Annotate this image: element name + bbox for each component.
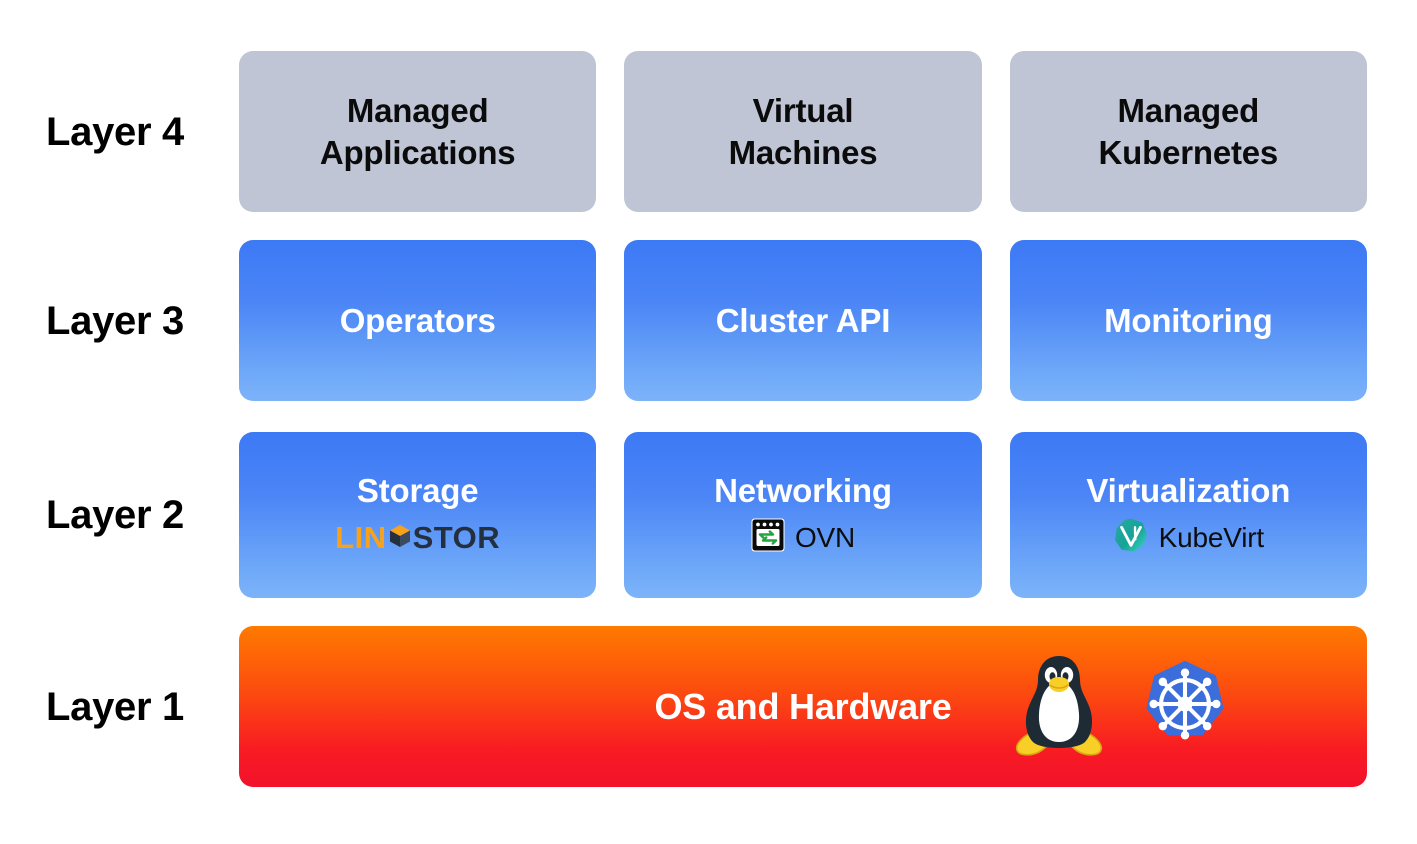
card-title-line-2: Kubernetes [1099, 134, 1279, 171]
linstor-cube-icon [389, 522, 411, 553]
ovn-icon [751, 518, 785, 557]
linstor-logo: LIN STOR [335, 518, 500, 558]
diagram-title: Layered platform architecture [0, 0, 1, 1]
card-title: Virtual Machines [729, 90, 878, 174]
card-title: Cluster API [716, 302, 890, 340]
card-title-line-2: Applications [320, 134, 516, 171]
card-title: Managed Kubernetes [1099, 90, 1279, 174]
card-managed-kubernetes[interactable]: Managed Kubernetes [1010, 51, 1367, 212]
layer-4-cards: Managed Applications Virtual Machines Ma… [239, 51, 1367, 212]
card-operators[interactable]: Operators [239, 240, 596, 401]
card-title: Managed Applications [320, 90, 516, 174]
card-title-line-1: Managed [1118, 92, 1260, 129]
linstor-wordmark: LIN STOR [335, 522, 500, 553]
layer-label-2: Layer 2 [46, 432, 226, 598]
card-title: Virtualization [1086, 472, 1290, 510]
card-title-line-2: Machines [729, 134, 878, 171]
card-title-line-1: Managed [347, 92, 489, 129]
layer-row-3: Layer 3 Operators Cluster API Monitoring [0, 240, 1417, 401]
linstor-stor-text: STOR [413, 522, 501, 553]
layer-label-3: Layer 3 [46, 240, 226, 401]
layer-row-1: Layer 1 OS and Hardware [0, 626, 1417, 787]
layer-row-4: Layer 4 Managed Applications Virtual Mac… [0, 51, 1417, 212]
card-virtual-machines[interactable]: Virtual Machines [624, 51, 981, 212]
card-title: Networking [714, 472, 892, 510]
kubernetes-icon [1139, 658, 1231, 755]
diagram-canvas: Layer 4 Managed Applications Virtual Mac… [0, 0, 1417, 844]
card-title-line-1: Virtual [753, 92, 854, 129]
card-monitoring[interactable]: Monitoring [1010, 240, 1367, 401]
card-title: Monitoring [1104, 302, 1272, 340]
card-networking[interactable]: Networking [624, 432, 981, 598]
layer-label-4: Layer 4 [46, 51, 226, 212]
layer-row-2: Layer 2 Storage LIN S [0, 432, 1417, 598]
card-virtualization[interactable]: Virtualization [1010, 432, 1367, 598]
layer-label-1: Layer 1 [46, 626, 226, 787]
card-cluster-api[interactable]: Cluster API [624, 240, 981, 401]
card-title: Storage [357, 472, 478, 510]
kubevirt-label: KubeVirt [1159, 524, 1264, 552]
layer-2-cards: Storage LIN STOR [239, 432, 1367, 598]
linstor-lin-text: LIN [335, 522, 386, 553]
layer-3-cards: Operators Cluster API Monitoring [239, 240, 1367, 401]
ovn-logo: OVN [751, 518, 855, 558]
bar-icon-group [1011, 648, 1231, 765]
card-storage[interactable]: Storage LIN STOR [239, 432, 596, 598]
card-title: Operators [340, 302, 496, 340]
kubevirt-icon [1113, 517, 1149, 558]
kubevirt-logo: KubeVirt [1113, 518, 1264, 558]
ovn-label: OVN [795, 524, 855, 552]
card-managed-applications[interactable]: Managed Applications [239, 51, 596, 212]
linux-tux-icon [1011, 648, 1107, 765]
bar-os-and-hardware[interactable]: OS and Hardware [239, 626, 1367, 787]
